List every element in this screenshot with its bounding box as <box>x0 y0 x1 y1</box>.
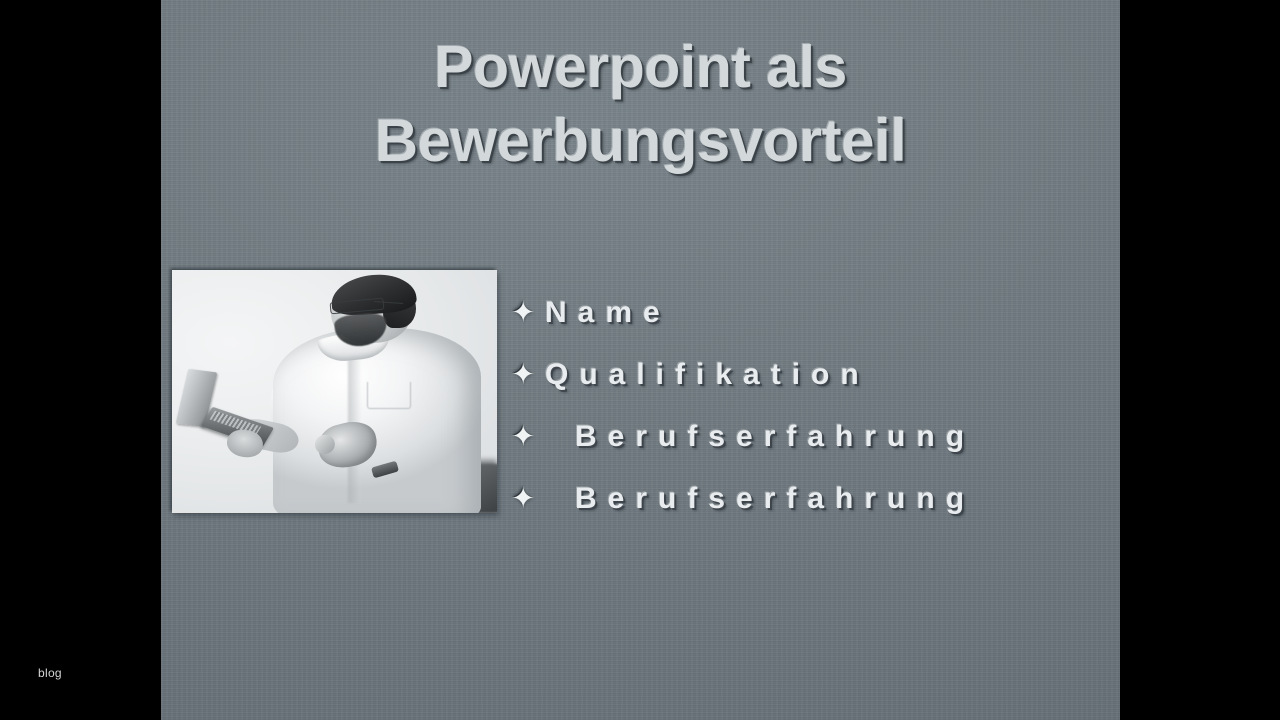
bullet-item-4: ✦ Berufserfahrung <box>511 468 1111 530</box>
bullet-item-2: ✦ Qualifikation <box>511 344 1111 406</box>
slide-title-line-1: Powerpoint als <box>161 30 1120 104</box>
bullet-item-label: Berufserfahrung <box>545 482 975 516</box>
bullet-item-1: ✦ Name <box>511 282 1111 344</box>
letterbox-bar-right <box>1120 0 1280 720</box>
diamond-star-icon: ✦ <box>511 361 545 390</box>
bullet-item-label: Name <box>545 296 671 330</box>
speaker-photo <box>172 270 497 513</box>
bullet-item-label: Qualifikation <box>545 358 870 392</box>
slide-title: Powerpoint als Bewerbungsvorteil <box>161 30 1120 178</box>
slide-title-line-2: Bewerbungsvorteil <box>161 104 1120 178</box>
photo-shirt-pocket <box>367 382 411 410</box>
bullet-item-3: ✦ Berufserfahrung <box>511 406 1111 468</box>
diamond-star-icon: ✦ <box>511 485 545 514</box>
blog-watermark: blog <box>38 666 62 680</box>
photo-shirt-body <box>273 328 481 513</box>
screenshot-stage: Powerpoint als Bewerbungsvorteil <box>0 0 1280 720</box>
slide-bullet-list: ✦ Name ✦ Qualifikation ✦ Berufserfahrung… <box>511 282 1111 530</box>
diamond-star-icon: ✦ <box>511 423 545 452</box>
presentation-slide: Powerpoint als Bewerbungsvorteil <box>161 0 1120 720</box>
photo-canvas <box>172 270 497 513</box>
bullet-item-label: Berufserfahrung <box>545 420 975 454</box>
letterbox-bar-left <box>0 0 161 720</box>
diamond-star-icon: ✦ <box>511 299 545 328</box>
